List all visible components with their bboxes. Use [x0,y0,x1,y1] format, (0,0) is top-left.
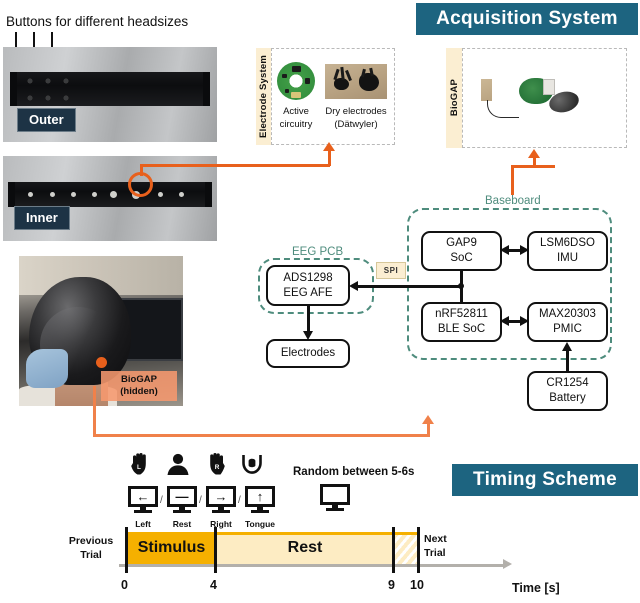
stimulus-bar-label: Stimulus [127,539,216,557]
tick-label-9: 9 [388,578,395,592]
cue-label-left: Left [127,519,159,529]
monitor-rest-period [320,484,350,510]
monitor-cue-tongue-glyph: ↑ [245,486,275,507]
svg-text:L: L [137,464,141,471]
tick-10 [417,527,420,573]
monitor-cue-right-glyph: → [206,486,236,507]
block-ads1298-line1: ADS1298 [283,271,332,286]
rest-bar-label: Rest [216,539,394,557]
wire-bus-to-ads1298 [355,285,462,288]
monitor-cue-right: → [206,486,236,512]
outer-headband-photo: Outer [3,47,217,142]
wire-ads1298-electrodes [307,306,310,331]
block-electrodes: Electrodes [266,339,350,368]
arrow-nrf-to-pmic [520,316,529,326]
arrow-gap9-to-imu [520,245,529,255]
biogap-cable [487,100,519,118]
biogap-hidden-tag: BioGAP (hidden) [101,371,177,401]
biogap-tag-line2: (hidden) [103,386,175,398]
dry-electrodes-image [325,64,387,99]
cue-label-rest: Rest [166,519,198,529]
arrow-battery-to-pmic [562,342,572,351]
baseboard-group-label: Baseboard [481,195,545,207]
headband-strap-outer [14,72,206,106]
block-max20303-line1: MAX20303 [539,307,596,322]
time-axis-arrowhead [503,559,512,569]
tick-label-4: 4 [210,578,217,592]
connector-timing-arrowhead [422,415,434,424]
block-ads1298: ADS1298 EEG AFE [266,265,350,306]
active-circuitry-pcb-image [277,62,315,100]
cue-label-right: Right [204,519,238,529]
block-max20303-line2: PMIC [539,322,596,337]
arrow-pmic-to-nrf [500,316,509,326]
cue-separator-2: / [199,495,202,506]
wire-battery-pmic [566,350,569,372]
cue-separator-1: / [160,495,163,506]
random-interval-note: Random between 5-6s [293,466,414,478]
next-trial-label: Next Trial [424,533,474,560]
biogap-tag-line1: BioGAP [103,374,175,386]
inner-headband-photo: Inner [3,156,217,241]
tick-label-10: 10 [410,578,424,592]
block-gap9-line2: SoC [446,251,477,266]
block-lsm6dso: LSM6DSO IMU [527,231,608,271]
block-cr1254: CR1254 Battery [527,371,608,411]
outer-label: Outer [17,108,76,132]
block-gap9: GAP9 SoC [421,231,502,271]
monitor-cue-rest: — [167,486,197,512]
wire-junction-dot [458,283,464,289]
biogap-tab-label: BioGAP [449,79,460,116]
connector-band-horiz [140,164,330,167]
block-gap9-line1: GAP9 [446,236,477,251]
connector-band-up [328,150,331,166]
biogap-flex-connector-image [543,79,555,95]
cue-label-tongue: Tongue [241,519,279,529]
block-nrf52811: nRF52811 BLE SoC [421,302,502,342]
arrow-ads1298-to-electrodes [303,331,313,340]
svg-text:R: R [215,464,220,471]
timing-scheme-banner: Timing Scheme [452,464,638,496]
biogap-electrode-pad-image [481,79,492,101]
block-cr1254-line2: Battery [546,391,588,406]
right-hand-icon: R [201,452,227,476]
block-nrf52811-line1: nRF52811 [435,307,488,322]
monitor-cue-left: ← [128,486,158,512]
inner-label: Inner [14,206,70,230]
active-circuitry-caption-line1: Active [272,106,320,118]
connector-biogap-up [533,157,536,167]
dry-electrodes-caption-line2: (Dätwyler) [320,119,392,131]
biogap-tab: BioGAP [446,48,462,148]
dry-electrodes-caption-line1: Dry electrodes [320,106,392,118]
tick-0 [125,527,128,573]
electrode-system-tab-label: Electrode System [258,55,269,138]
cue-separator-3: / [238,495,241,506]
person-rest-icon [166,453,190,475]
headsize-buttons-annotation: Buttons for different headsizes [6,14,188,29]
block-lsm6dso-line2: IMU [540,251,595,266]
acquisition-system-banner: Acquisition System [416,3,638,35]
tongue-icon [240,452,264,476]
eeg-pcb-group-label: EEG PCB [288,246,347,258]
spi-bus-label: SPI [376,262,406,279]
block-max20303: MAX20303 PMIC [527,302,608,342]
next-trial-line1: Next [424,533,474,547]
monitor-cue-left-glyph: ← [128,486,158,507]
monitor-cue-tongue: ↑ [245,486,275,512]
monitor-cue-rest-glyph: — [167,486,197,507]
block-ads1298-line2: EEG AFE [283,286,332,301]
arrow-imu-to-gap9 [500,245,509,255]
time-axis-line [119,564,505,567]
jitter-hatch-topline [394,532,419,535]
tick-4 [214,527,217,573]
biogap-location-dot [96,357,107,368]
block-electrodes-line1: Electrodes [281,346,335,361]
block-lsm6dso-line1: LSM6DSO [540,236,595,251]
connector-timing-up [427,423,430,436]
left-hand-icon: L [129,452,155,476]
active-circuitry-caption-line2: circuitry [272,119,320,131]
connector-biogap-vert [511,165,514,195]
block-nrf52811-line2: BLE SoC [435,322,488,337]
tick-label-0: 0 [121,578,128,592]
time-axis-label: Time [s] [512,581,560,595]
previous-trial-label: Previous Trial [62,535,120,562]
rest-bar-topline [216,532,394,535]
connector-timing-horiz [93,434,430,437]
block-cr1254-line1: CR1254 [546,376,588,391]
previous-trial-line1: Previous [62,535,120,549]
jitter-hatch-bar [394,532,419,565]
arrow-bus-to-ads1298 [349,281,358,291]
connector-biogap-arrowhead [528,149,540,158]
tick-9 [392,527,395,573]
electrode-system-tab: Electrode System [256,48,271,145]
figure-root: Acquisition System Timing Scheme Buttons… [0,0,640,603]
next-trial-line2: Trial [424,547,474,561]
previous-trial-line2: Trial [62,549,120,563]
connector-band-arrowhead [323,142,335,151]
headband-strap-inner [12,182,208,207]
connector-timing-vert [93,386,96,436]
